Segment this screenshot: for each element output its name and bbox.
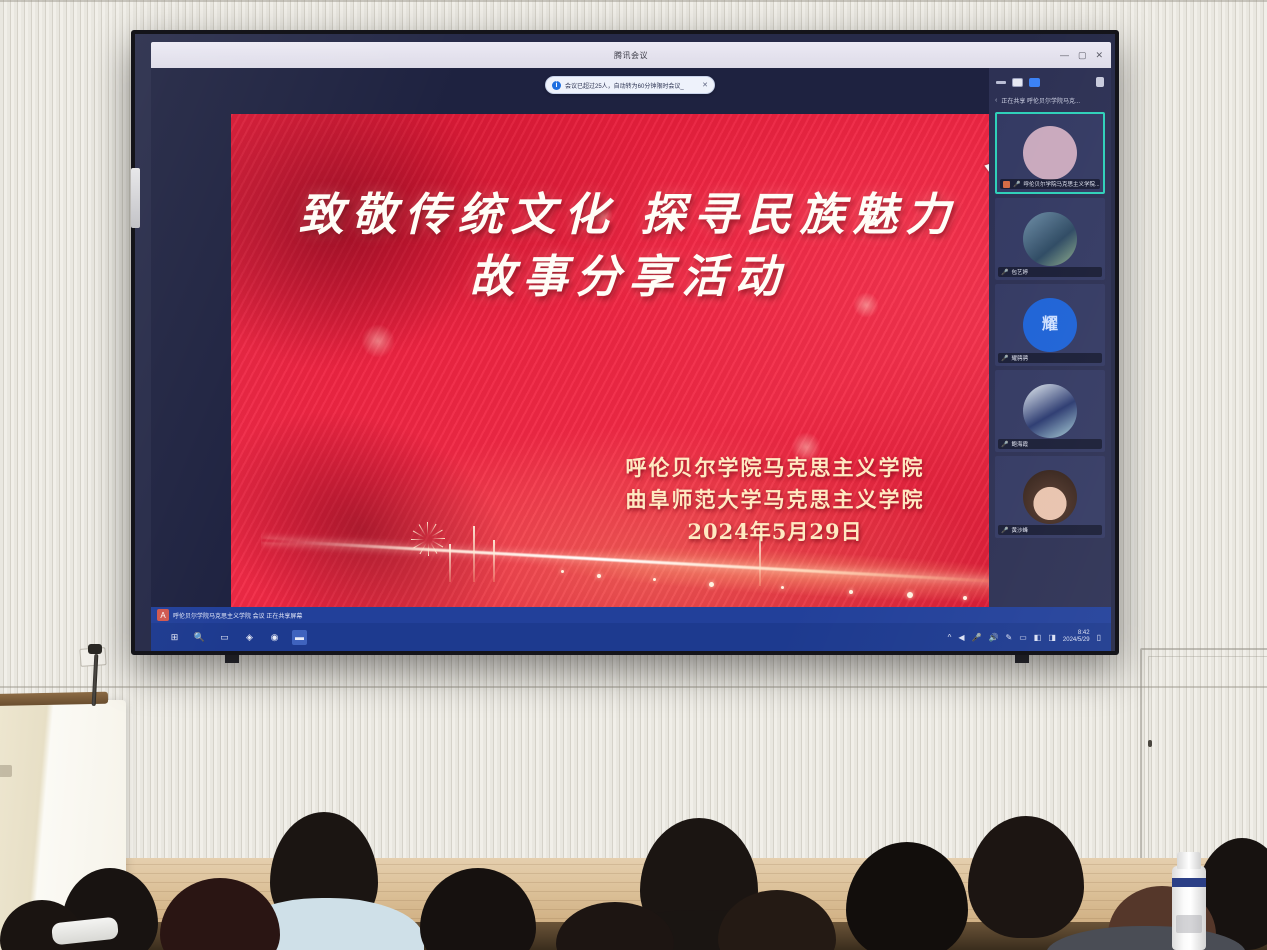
notification-text: 会议已超过25人，自动转为60分钟限时会议_ — [565, 81, 698, 90]
slide-title-line-2: 故事分享活动 — [231, 246, 1026, 308]
participant-tile[interactable]: 🎤 呼伦贝尔学院马克思主义学院... — [995, 112, 1105, 194]
app-icon[interactable]: A — [157, 609, 169, 621]
spark — [907, 592, 913, 598]
microphone-icon: 🎤 — [1001, 269, 1008, 276]
windows-desktop: 腾讯会议 — ▢ ✕ 致敬传统文化 探寻 — [135, 34, 1115, 651]
taskbar-clock[interactable]: 8:42 2024/5/29 — [1063, 630, 1090, 644]
slide-organization-block: 呼伦贝尔学院马克思主义学院 曲阜师范大学马克思主义学院 2024年5月29日 — [560, 452, 990, 549]
rail-sharing-header: ‹ 正在共享 呼伦贝尔学院马克... — [995, 94, 1105, 107]
podium-logo — [0, 765, 12, 777]
display-ir-sensor — [131, 168, 140, 228]
participant-name-badge: 🎤 鲍海霞 — [998, 439, 1102, 449]
task-view-icon[interactable]: ▭ — [217, 630, 232, 645]
slide-title-line-1: 致敬传统文化 探寻民族魅力 — [231, 184, 1026, 246]
participant-tile[interactable]: 🎤 包艺婷 — [995, 198, 1105, 280]
teams-icon[interactable]: ◈ — [242, 630, 257, 645]
open-window-strip: A 呼伦贝尔学院马克思主义学院 会议 正在共享屏幕 — [151, 607, 1111, 623]
close-icon[interactable]: ✕ — [1095, 51, 1103, 60]
lecture-hall-scene: 腾讯会议 — ▢ ✕ 致敬传统文化 探寻 — [0, 0, 1267, 950]
tray-ime-icon[interactable]: ▭ — [1019, 633, 1027, 642]
avatar — [1023, 126, 1077, 180]
participant-name-badge: 🎤 耀骋骋 — [998, 353, 1102, 363]
participant-tile[interactable]: 🎤 鲍海霞 — [995, 370, 1105, 452]
grid-view-icon[interactable] — [1029, 78, 1040, 87]
window-title: 腾讯会议 — [614, 50, 648, 61]
maximize-icon[interactable]: ▢ — [1078, 51, 1087, 60]
info-icon: i — [552, 81, 561, 90]
door-knob — [1148, 740, 1152, 747]
participant-name: 耀骋骋 — [1011, 354, 1028, 362]
avatar — [1023, 470, 1077, 524]
microphone-head — [88, 644, 102, 654]
start-button-icon[interactable]: ⊞ — [167, 630, 182, 645]
water-bottle-label — [1176, 915, 1202, 933]
edge-icon[interactable]: ◉ — [267, 630, 282, 645]
microphone-icon: 🎤 — [1001, 441, 1008, 448]
wall-seam-middle — [0, 686, 1267, 688]
firework-burst — [411, 522, 445, 556]
wall-seam-top — [0, 0, 1267, 2]
window-icon[interactable] — [1012, 78, 1023, 87]
participant-rail: ‹ 正在共享 呼伦贝尔学院马克... 🎤 呼伦贝尔学院马克思主义学院... — [989, 68, 1111, 651]
chevron-left-icon[interactable]: ‹ — [995, 97, 997, 104]
tray-expand-icon[interactable]: ^ — [948, 633, 952, 642]
open-window-label: 呼伦贝尔学院马克思主义学院 会议 正在共享屏幕 — [173, 611, 302, 620]
avatar — [1023, 384, 1077, 438]
slide-title-block: 致敬传统文化 探寻民族魅力 故事分享活动 — [231, 184, 1026, 308]
water-bottle-cap — [1177, 852, 1201, 869]
slide-org-line-2: 曲阜师范大学马克思主义学院 — [560, 484, 990, 516]
spark — [597, 574, 601, 578]
rail-toolbar — [989, 72, 1111, 92]
participant-name: 包艺婷 — [1011, 268, 1028, 276]
wall-display: 腾讯会议 — ▢ ✕ 致敬传统文化 探寻 — [131, 30, 1119, 655]
skyline-tower — [449, 544, 451, 582]
spark — [781, 586, 784, 589]
rail-sharing-label: 正在共享 呼伦贝尔学院马克... — [1001, 96, 1080, 105]
tray-battery-icon[interactable]: ◨ — [1048, 633, 1056, 642]
slide-org-line-1: 呼伦贝尔学院马克思主义学院 — [560, 452, 990, 484]
tray-media-icon[interactable]: ◀ — [958, 633, 964, 642]
slide-date: 2024年5月29日 — [560, 515, 990, 549]
window-title-bar: 腾讯会议 — ▢ ✕ — [151, 42, 1111, 68]
tray-pen-icon[interactable]: ✎ — [1006, 633, 1013, 642]
water-bottle-band — [1172, 878, 1206, 887]
minimize-icon[interactable] — [996, 81, 1006, 84]
clock-date: 2024/5/29 — [1063, 637, 1090, 643]
menu-icon[interactable] — [1096, 77, 1104, 87]
participant-name-badge: 🎤 包艺婷 — [998, 267, 1102, 277]
tray-microphone-icon[interactable]: 🎤 — [972, 633, 982, 642]
meeting-notification-toast: i 会议已超过25人，自动转为60分钟限时会议_ ✕ — [545, 76, 715, 94]
spark — [963, 596, 967, 600]
avatar: 耀 — [1023, 298, 1077, 352]
windows-taskbar: ⊞ 🔍 ▭ ◈ ◉ ▬ ^ ◀ 🎤 🔊 ✎ ▭ ◧ — [151, 623, 1111, 651]
tray-volume-icon[interactable]: 🔊 — [989, 633, 999, 642]
microphone-icon: 🎤 — [1001, 355, 1008, 362]
show-desktop-icon[interactable]: ▯ — [1097, 633, 1101, 642]
search-icon[interactable]: 🔍 — [192, 630, 207, 645]
participant-name: 呼伦贝尔学院马克思主义学院... — [1023, 180, 1099, 188]
spark — [653, 578, 656, 581]
shared-slide: 致敬传统文化 探寻民族魅力 故事分享活动 — [231, 114, 1026, 634]
spark — [849, 590, 853, 594]
clock-time: 8:42 — [1078, 630, 1090, 636]
skyline-tower — [493, 540, 495, 582]
notification-close-icon[interactable]: ✕ — [702, 81, 708, 89]
participant-name: 鲍海霞 — [1011, 440, 1028, 448]
minimize-icon[interactable]: — — [1060, 51, 1069, 60]
tray-network-icon[interactable]: ◧ — [1034, 633, 1042, 642]
spark — [561, 570, 564, 573]
spark — [709, 582, 714, 587]
participant-name-badge: 🎤 呼伦贝尔学院马克思主义学院... — [1000, 179, 1100, 189]
participant-name-badge: 🎤 黄沙峰 — [998, 525, 1102, 535]
microphone-icon: 🎤 — [1001, 527, 1008, 534]
taskbar-left-group: ⊞ 🔍 ▭ ◈ ◉ ▬ — [151, 630, 307, 645]
system-tray: ^ ◀ 🎤 🔊 ✎ ▭ ◧ ◨ 8:42 2024/5/29 ▯ — [948, 630, 1111, 644]
meeting-window-body: 致敬传统文化 探寻民族魅力 故事分享活动 — [151, 68, 1111, 651]
participant-name: 黄沙峰 — [1011, 526, 1028, 534]
skyline-tower — [473, 526, 475, 582]
host-badge — [1003, 181, 1010, 188]
meeting-icon[interactable]: ▬ — [292, 630, 307, 645]
bokeh-light — [361, 324, 395, 358]
window-controls: — ▢ ✕ — [1060, 42, 1103, 68]
avatar — [1023, 212, 1077, 266]
participant-tile[interactable]: 耀 🎤 耀骋骋 — [995, 284, 1105, 366]
participant-tile[interactable]: 🎤 黄沙峰 — [995, 456, 1105, 538]
microphone-icon: 🎤 — [1013, 181, 1020, 188]
